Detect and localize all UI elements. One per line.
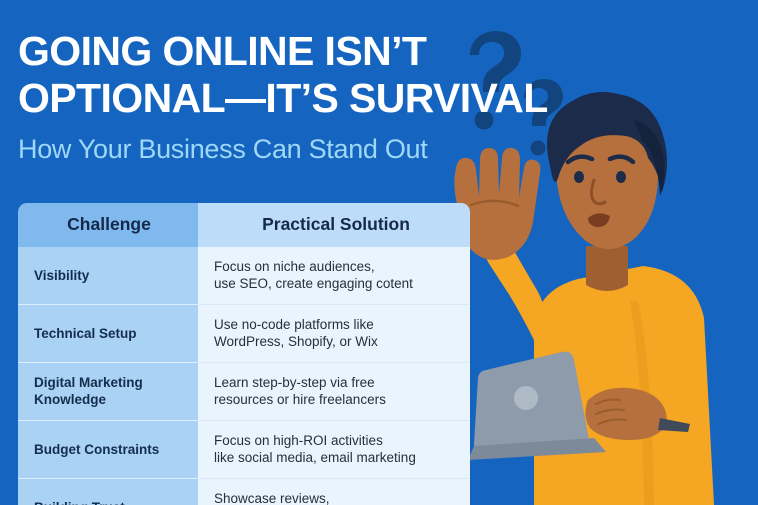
row-challenge: Digital Marketing Knowledge xyxy=(18,362,198,420)
table-row: Technical Setup Use no-code platforms li… xyxy=(18,304,470,362)
row-challenge: Visibility xyxy=(18,247,198,304)
page-title: GOING ONLINE ISN’T OPTIONAL—IT’S SURVIVA… xyxy=(18,28,628,122)
hand-on-laptop xyxy=(585,388,690,440)
challenges-solutions-table: Challenge Practical Solution Visibility … xyxy=(18,203,470,505)
infographic-poster: GOING ONLINE ISN’T OPTIONAL—IT’S SURVIVA… xyxy=(0,0,758,505)
table-row: Building Trust Showcase reviews, testimo… xyxy=(18,478,470,505)
laptop xyxy=(468,352,606,460)
row-solution: Focus on high-ROI activities like social… xyxy=(198,420,470,478)
header-text-block: GOING ONLINE ISN’T OPTIONAL—IT’S SURVIVA… xyxy=(18,28,628,165)
table-header-row: Challenge Practical Solution xyxy=(18,203,470,247)
table-row: Visibility Focus on niche audiences, use… xyxy=(18,247,470,304)
row-solution: Learn step-by-step via free resources or… xyxy=(198,362,470,420)
neck xyxy=(586,246,628,291)
row-challenge: Building Trust xyxy=(18,478,198,505)
row-solution: Use no-code platforms like WordPress, Sh… xyxy=(198,304,470,362)
column-header-practical-solution: Practical Solution xyxy=(198,203,470,247)
row-challenge: Technical Setup xyxy=(18,304,198,362)
row-solution: Showcase reviews, testimonials, behind-t… xyxy=(198,478,470,505)
table-row: Digital Marketing Knowledge Learn step-b… xyxy=(18,362,470,420)
sweater-body xyxy=(534,266,714,505)
page-subtitle: How Your Business Can Stand Out xyxy=(18,133,628,165)
sweater-fold xyxy=(630,300,654,505)
raised-sleeve xyxy=(486,241,550,340)
column-header-challenge: Challenge xyxy=(18,203,198,247)
row-challenge: Budget Constraints xyxy=(18,420,198,478)
table-row: Budget Constraints Focus on high-ROI act… xyxy=(18,420,470,478)
row-solution: Focus on niche audiences, use SEO, creat… xyxy=(198,247,470,304)
